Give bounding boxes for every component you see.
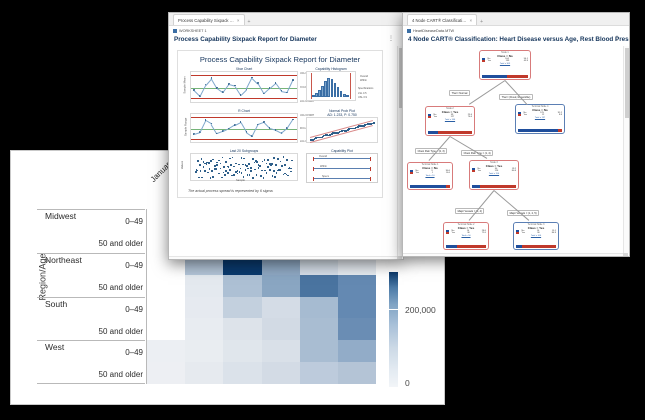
data-point	[276, 172, 278, 174]
data-point	[271, 163, 273, 165]
node-distribution-bar	[482, 75, 528, 77]
data-point	[216, 162, 218, 164]
data-point	[278, 169, 280, 171]
sixpack-report-card: Process Capability Sixpack Report for Di…	[177, 50, 383, 198]
data-point	[281, 165, 283, 167]
tree-edge	[469, 80, 506, 105]
tab-label: Process Capability Sixpack …	[178, 18, 234, 23]
close-icon[interactable]: ×	[469, 18, 472, 23]
node-pct: 8.8	[559, 114, 562, 117]
heatmap-cell-r3-c2[interactable]	[223, 275, 261, 297]
tab-sixpack-report[interactable]: Process Capability Sixpack … ×	[173, 14, 245, 25]
data-point	[264, 159, 266, 161]
y-group-name: South	[45, 299, 67, 309]
data-point	[263, 177, 265, 179]
data-point	[228, 166, 230, 168]
heatmap-cell-r5-c1[interactable]	[185, 318, 223, 340]
lcl-line	[191, 98, 297, 99]
swatch-yes-icon	[472, 170, 475, 172]
heatmap-cell-r6-c1[interactable]	[185, 340, 223, 362]
heatmap-cell-r3-c5[interactable]	[338, 275, 376, 297]
data-point	[243, 176, 245, 178]
bar-segment-no	[518, 129, 558, 131]
colorbar-tick	[389, 309, 398, 310]
node-pct: 72.0	[482, 232, 486, 235]
data-point	[223, 172, 225, 174]
data-point	[270, 165, 272, 167]
capability-endpoint	[370, 167, 371, 171]
node-pct: 45.9	[524, 60, 528, 63]
data-point	[267, 166, 269, 168]
data-point	[260, 175, 262, 177]
cart-tree-canvas: Node 1Class = NoNo16454.1Yes13945.9Total…	[403, 46, 629, 257]
panel-x-label: Sample	[236, 179, 245, 182]
bar-segment-no	[446, 245, 457, 247]
worksheet-icon	[407, 29, 411, 33]
split-rule-s5: Major Vessels = (3, 4)	[455, 208, 484, 214]
data-point	[225, 161, 227, 163]
data-point	[199, 164, 201, 166]
tree-edge	[505, 80, 528, 105]
node-total: Total = 156	[470, 173, 518, 175]
scrollbar-thumb[interactable]	[625, 48, 629, 118]
node-total: Total = 137	[516, 117, 564, 119]
panel-last-subgroups: Last 20 Subgroups Values Sample	[190, 149, 298, 181]
worksheet-label: HeartDiseaseData.MTW	[413, 29, 454, 33]
sixpack-footnote: The actual process spread is represented…	[188, 189, 274, 193]
data-point	[212, 176, 214, 178]
data-point	[207, 172, 209, 174]
cart-tab-bar[interactable]: 4 Node CART® Classificati… × +	[403, 13, 629, 26]
node-class-name: Yes	[524, 114, 528, 117]
node-distribution-bar	[446, 245, 486, 247]
colorbar-high-label: 200,000	[405, 305, 436, 315]
data-point	[204, 170, 206, 172]
ucl-line	[191, 75, 297, 76]
probplot-plot-area	[306, 117, 378, 143]
data-point	[230, 164, 232, 166]
data-point	[220, 163, 222, 165]
data-point	[264, 170, 266, 172]
add-tab-icon[interactable]: +	[480, 19, 483, 25]
data-point	[246, 165, 248, 167]
bar-segment-no	[472, 185, 480, 187]
data-point	[258, 167, 260, 169]
split-rule-s1: Thal = Normal	[449, 90, 470, 96]
data-point	[250, 170, 252, 172]
node-total: Total = 50	[444, 235, 488, 237]
tree-node-t4[interactable]: Terminal Node 3Class = YesNo1615.1Yes908…	[513, 222, 559, 250]
data-point	[283, 156, 285, 158]
heatmap-cell-r7-c1[interactable]	[185, 362, 223, 384]
heatmap-cell-r5-c4[interactable]	[300, 318, 338, 340]
data-point	[200, 170, 202, 172]
sixpack-tab-bar[interactable]: Process Capability Sixpack … × +	[169, 13, 403, 26]
worksheet-label: WORKSHEET 1	[179, 29, 207, 33]
panel-normal-prob-plot: Normal Prob Plot AD: 1.233, P: 0.750	[306, 109, 378, 143]
data-point	[269, 169, 271, 171]
heatmap-cell-r7-c3[interactable]	[262, 362, 300, 384]
heatmap-cell-r3-c0[interactable]	[147, 275, 185, 297]
overflow-menu-icon[interactable]: ⋮	[614, 35, 620, 42]
close-icon[interactable]: ×	[237, 18, 240, 23]
tree-node-t1[interactable]: Terminal Node 4Class = NoNo12591.2Yes128…	[515, 104, 565, 134]
node-distribution-bar	[410, 185, 450, 187]
data-point	[247, 168, 249, 170]
horizontal-scrollbar[interactable]	[403, 253, 623, 257]
capability-range-bar	[313, 168, 371, 169]
legend-overall: Overall	[360, 75, 368, 78]
heatmap-cell-r5-c2[interactable]	[223, 318, 261, 340]
data-point	[260, 166, 262, 168]
sixpack-report-canvas: Process Capability Sixpack Report for Di…	[169, 46, 403, 260]
node-total: Total = 106	[514, 235, 558, 237]
heatmap-cell-r5-c3[interactable]	[262, 318, 300, 340]
swatch-yes-icon	[516, 232, 519, 234]
y-level-label: 0–49	[125, 305, 143, 314]
data-point	[273, 170, 275, 172]
data-point	[241, 172, 243, 174]
panel-xbar-chart: Xbar Chart Sample Mean UCL=0.9787 X=0.83…	[190, 67, 298, 103]
data-point	[287, 175, 289, 177]
capability-range-bar	[313, 178, 371, 179]
y-level-label: 0–49	[125, 348, 143, 357]
heatmap-cell-r3-c4[interactable]	[300, 275, 338, 297]
data-point	[286, 159, 288, 161]
data-point	[277, 158, 279, 160]
cart-heading: 4 Node CART® Classification: Heart Disea…	[403, 35, 629, 46]
y-group-name: West	[45, 342, 64, 352]
node-pct: 80.8	[512, 170, 516, 173]
node-pct: 84.9	[552, 232, 556, 235]
y-level-label: 50 and older	[99, 283, 143, 292]
data-point	[229, 169, 231, 171]
node-class-name: Yes	[488, 60, 492, 63]
node-class-name: Yes	[416, 172, 420, 175]
data-point	[209, 168, 211, 170]
tab-cart-classification[interactable]: 4 Node CART® Classificati… ×	[407, 14, 477, 25]
overflow-menu-icon[interactable]: ⋮	[388, 35, 394, 42]
node-pct: 76.6	[468, 116, 472, 119]
node-pct: 10.0	[446, 172, 450, 175]
spec-limit-line	[311, 73, 312, 99]
panel-y-label: Values	[180, 161, 184, 169]
data-point	[238, 164, 240, 166]
spec-header: Specifications	[358, 87, 373, 90]
node-distribution-bar	[428, 131, 472, 133]
y-group-south: South 0–49 50 and older	[37, 297, 145, 341]
sixpack-worksheet-bar: WORKSHEET 1	[169, 26, 403, 35]
bar-segment-yes	[480, 185, 516, 187]
data-point	[240, 168, 242, 170]
data-point	[273, 157, 275, 159]
data-point	[254, 162, 256, 164]
data-point	[245, 169, 247, 171]
data-point	[232, 157, 234, 159]
node-total: Total = 303	[480, 63, 530, 65]
data-point	[262, 161, 264, 163]
data-point	[290, 171, 292, 173]
swatch-yes-icon	[410, 172, 413, 174]
node-total: Total = 166	[426, 119, 474, 121]
data-point	[198, 177, 200, 179]
histogram-bar	[346, 95, 349, 97]
usl-label: USL 0.9	[358, 96, 367, 99]
data-point	[243, 158, 245, 160]
data-point	[221, 177, 223, 179]
y-level-label: 0–49	[125, 261, 143, 270]
heatmap-cell-r7-c0[interactable]	[147, 362, 185, 384]
data-point	[197, 170, 199, 172]
data-point	[210, 177, 212, 179]
node-distribution-bar	[518, 129, 562, 131]
data-point	[233, 174, 235, 176]
subgroups-plot-area	[190, 153, 298, 181]
y-group-midwest: Midwest 0–49 50 and older	[37, 209, 145, 253]
bar-segment-yes	[507, 75, 528, 77]
capability-range-bar	[313, 158, 371, 159]
data-point	[211, 170, 213, 172]
data-point	[254, 169, 256, 171]
heatmap-cell-r6-c3[interactable]	[262, 340, 300, 362]
capability-endpoint	[370, 177, 371, 181]
data-point	[248, 163, 250, 165]
data-point	[216, 164, 218, 166]
data-point	[203, 166, 205, 168]
tree-node-root[interactable]: Node 1Class = NoNo16454.1Yes13945.9Total…	[479, 50, 531, 80]
y-level-label: 50 and older	[99, 239, 143, 248]
capability-endpoint	[370, 157, 371, 161]
bar-segment-yes	[522, 245, 556, 247]
panel-r-chart: R Chart Sample Range UCL=0.5087 R=0.2404…	[190, 109, 298, 143]
data-point	[197, 160, 199, 162]
data-point	[250, 167, 252, 169]
capability-plot-area: Overall Within Specs	[306, 153, 378, 183]
data-point	[267, 159, 269, 161]
data-point	[252, 177, 254, 179]
bar-segment-yes	[457, 245, 486, 247]
panel-capability-histogram: Capability Histogram	[306, 67, 356, 101]
data-point	[266, 172, 268, 174]
data-point	[210, 160, 212, 162]
data-point	[229, 158, 231, 160]
data-point	[235, 163, 237, 165]
sixpack-heading: Process Capability Sixpack Report for Di…	[169, 35, 403, 46]
spec-limit-line	[350, 73, 351, 99]
swatch-yes-icon	[518, 114, 521, 116]
bar-segment-yes	[446, 185, 450, 187]
data-point	[292, 79, 294, 81]
sixpack-report-window[interactable]: Process Capability Sixpack … × + WORKSHE…	[168, 12, 404, 260]
confidence-band	[310, 120, 373, 137]
add-tab-icon[interactable]: +	[248, 19, 251, 25]
legend-within: Within	[360, 79, 367, 82]
colorbar-low-label: 0	[405, 378, 410, 388]
capability-endpoint	[313, 157, 314, 161]
data-point	[224, 174, 226, 176]
rchart-plot-area	[190, 113, 298, 143]
node-total: Total = 10	[408, 175, 452, 177]
node-class-name: Yes	[478, 170, 482, 173]
resize-grip[interactable]	[623, 253, 628, 257]
data-point	[218, 173, 220, 175]
data-point	[275, 164, 277, 166]
split-rule-s3: Chest Pain Type = (2, 3)	[415, 148, 447, 154]
xbar-plot-area	[190, 71, 298, 103]
data-point	[249, 174, 251, 176]
panel-y-label: Sample Range	[183, 118, 187, 137]
data-point	[252, 158, 254, 160]
data-point	[227, 172, 229, 174]
y-level-label: 50 and older	[99, 327, 143, 336]
ucl-line	[191, 117, 297, 118]
lcl-line	[191, 139, 297, 140]
lsl-label: LSL 0.5	[358, 92, 367, 95]
heatmap-cell-r3-c1[interactable]	[185, 275, 223, 297]
y-level-label: 0–49	[125, 217, 143, 226]
panel-capability-plot: Capability Plot Overall Within Specs	[306, 149, 378, 183]
heatmap-colorbar: 200,000 0	[389, 272, 447, 392]
data-point	[280, 161, 282, 163]
node-distribution-bar	[472, 185, 516, 187]
data-point	[272, 175, 274, 177]
cart-worksheet-bar: HeartDiseaseData.MTW	[403, 26, 629, 35]
node-class-table: No3019.2Yes12680.8	[470, 168, 518, 173]
y-group-name: Midwest	[45, 211, 76, 221]
colorbar-gradient	[389, 272, 398, 387]
tree-edge	[469, 190, 495, 221]
heatmap-cell-r3-c3[interactable]	[262, 275, 300, 297]
data-point	[241, 157, 243, 159]
heatmap-cell-r4-c1[interactable]	[185, 297, 223, 319]
bar-segment-yes	[558, 129, 562, 131]
cart-tree-diagram: Node 1Class = NoNo16454.1Yes13945.9Total…	[403, 46, 622, 252]
swatch-yes-icon	[428, 116, 431, 118]
data-point	[218, 160, 220, 162]
bar-segment-no	[410, 185, 446, 187]
data-point	[290, 168, 292, 170]
data-point	[261, 170, 263, 172]
heatmap-cell-r4-c3[interactable]	[262, 297, 300, 319]
tree-node-n2[interactable]: Node 2Class = YesNo3923.4Yes12776.6Total…	[425, 106, 475, 136]
capability-endpoint	[313, 167, 314, 171]
split-rule-s2: Thal = (Fixed, Reversible)	[499, 94, 533, 100]
data-point	[208, 162, 210, 164]
tree-node-n3[interactable]: Node 3Class = YesNo3019.2Yes12680.8Total…	[469, 160, 519, 190]
heatmap-cell-r7-c2[interactable]	[223, 362, 261, 384]
data-point	[256, 161, 258, 163]
node-class-name: Yes	[434, 116, 438, 119]
heatmap-cell-r6-c0[interactable]	[147, 340, 185, 362]
bar-segment-no	[428, 131, 438, 133]
tree-edge	[494, 190, 530, 221]
data-point	[266, 163, 268, 165]
data-point	[274, 176, 276, 178]
tree-node-t3[interactable]: Terminal Node 2Class = YesNo1428.0Yes367…	[443, 222, 489, 250]
vertical-scrollbar[interactable]	[623, 46, 629, 253]
data-point	[233, 166, 235, 168]
node-distribution-bar	[516, 245, 556, 247]
node-class-table: No3923.4Yes12776.6	[426, 114, 474, 119]
heatmap-cell-r4-c5[interactable]	[338, 297, 376, 319]
data-point	[373, 122, 375, 124]
node-class-name: Yes	[522, 232, 526, 235]
y-level-label: 50 and older	[99, 370, 143, 379]
swatch-yes-icon	[446, 232, 449, 234]
data-point	[212, 159, 214, 161]
data-point	[222, 157, 224, 159]
bar-segment-no	[482, 75, 507, 77]
data-point	[284, 164, 286, 166]
bar-segment-yes	[438, 131, 472, 133]
heatmap-y-axis-labels: Midwest 0–49 50 and older Northeast 0–49…	[37, 209, 145, 384]
panel-y-label: Sample Mean	[183, 76, 187, 93]
data-point	[206, 163, 208, 165]
y-group-name: Northeast	[45, 255, 82, 265]
heatmap-cell-r4-c4[interactable]	[300, 297, 338, 319]
capability-endpoint	[313, 177, 314, 181]
data-point	[220, 168, 222, 170]
data-point	[256, 174, 258, 176]
data-point	[291, 160, 293, 162]
data-point	[201, 158, 203, 160]
heatmap-cell-r4-c2[interactable]	[223, 297, 261, 319]
heatmap-cell-r4-c0[interactable]	[147, 297, 185, 319]
heatmap-cell-r6-c4[interactable]	[300, 340, 338, 362]
data-point	[242, 164, 244, 166]
node-class-name: Yes	[452, 232, 456, 235]
heatmap-cell-r5-c0[interactable]	[147, 318, 185, 340]
swatch-yes-icon	[482, 60, 485, 62]
sixpack-report-title: Process Capability Sixpack Report for Di…	[178, 51, 382, 64]
tree-node-t2[interactable]: Terminal Node 1Class = NoNo990.0Yes110.0…	[407, 162, 453, 190]
tab-label: 4 Node CART® Classificati…	[412, 18, 466, 23]
heatmap-cell-r7-c5[interactable]	[338, 362, 376, 384]
data-point	[292, 119, 294, 121]
y-group-northeast: Northeast 0–49 50 and older	[37, 253, 145, 297]
y-group-west: West 0–49 50 and older	[37, 340, 145, 384]
horizontal-scrollbar[interactable]	[169, 256, 397, 260]
heatmap-cell-r7-c4[interactable]	[300, 362, 338, 384]
desktop-background: Region/Age Midwest 0–49 50 and older Nor…	[0, 0, 645, 420]
data-point	[223, 166, 225, 168]
heatmap-cell-r5-c5[interactable]	[338, 318, 376, 340]
cart-classification-window[interactable]: 4 Node CART® Classificati… × + HeartDise…	[402, 12, 630, 257]
heatmap-cell-r6-c2[interactable]	[223, 340, 261, 362]
worksheet-icon	[173, 29, 177, 33]
histogram-plot-area	[306, 71, 356, 101]
data-point	[215, 168, 217, 170]
data-point	[201, 177, 203, 179]
heatmap-cell-r6-c5[interactable]	[338, 340, 376, 362]
